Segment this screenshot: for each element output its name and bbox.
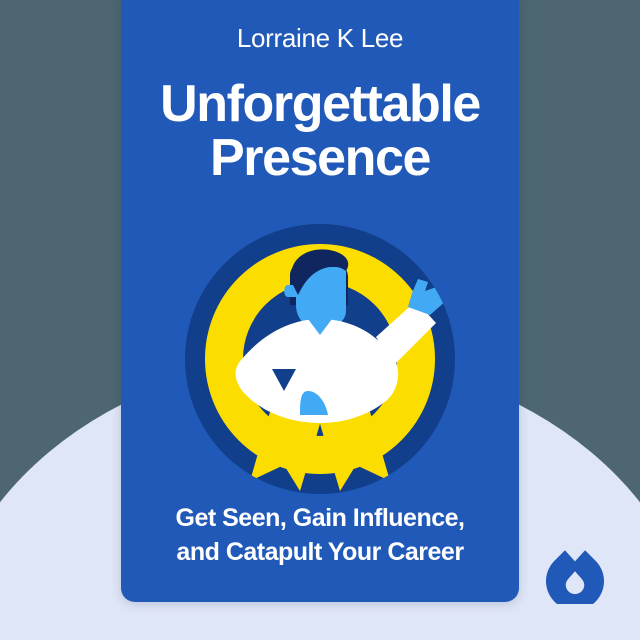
- blinkist-logo: [546, 546, 604, 604]
- author-name: Lorraine K Lee: [237, 24, 403, 53]
- book-cover-card: Lorraine K Lee Unforgettable Presence: [121, 0, 519, 602]
- book-title: Unforgettable Presence: [150, 77, 490, 186]
- cover-stage: Lorraine K Lee Unforgettable Presence: [0, 0, 640, 640]
- award-ribbon-person-illustration: [180, 219, 460, 499]
- background-dome-base: [0, 596, 640, 640]
- book-subtitle: Get Seen, Gain Influence, and Catapult Y…: [121, 502, 519, 570]
